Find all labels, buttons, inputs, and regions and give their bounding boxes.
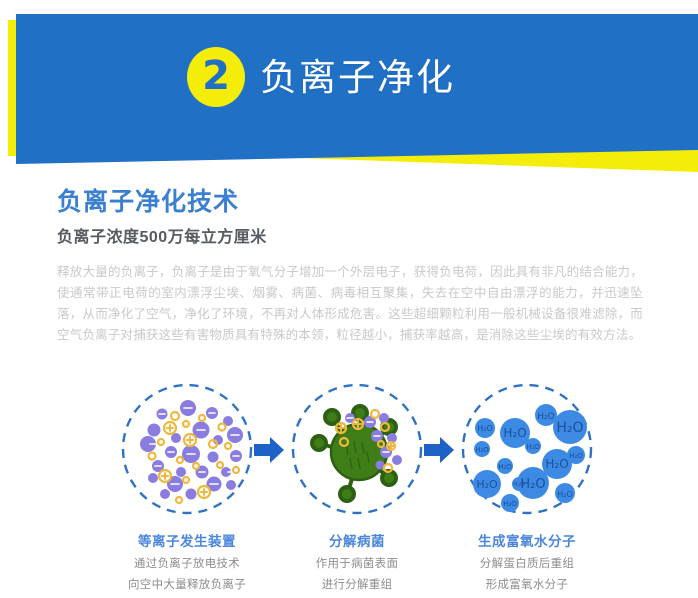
step-3-title: 生成富氧水分子 (432, 530, 622, 550)
step-1-line-1: 通过负离子放电技术 (92, 555, 282, 571)
svg-text:H₂O: H₂O (569, 452, 583, 460)
svg-text:H₂O: H₂O (498, 463, 512, 471)
svg-text:H₂O: H₂O (475, 446, 489, 454)
step-2-line-1: 作用于病菌表面 (262, 555, 452, 571)
diagram-step-decompose-germs: 分解病菌 作用于病菌表面 进行分解重组 (262, 380, 452, 592)
banner-step-badge: 2 (187, 47, 245, 107)
step-1-line-2: 向空中大量释放负离子 (92, 576, 282, 592)
section-subheading: 负离子浓度500万每立方厘米 (57, 223, 267, 247)
step-1-title: 等离子发生装置 (92, 530, 282, 550)
virus-with-ions-icon (288, 380, 426, 518)
diagram-step-plasma-generator: 等离子发生装置 通过负离子放电技术 向空中大量释放负离子 (92, 380, 282, 592)
svg-text:H₂O: H₂O (556, 420, 583, 436)
svg-text:H₂O: H₂O (503, 426, 526, 440)
svg-text:H₂O: H₂O (537, 412, 554, 422)
step-1-graphic (118, 380, 256, 518)
step-2-graphic (288, 380, 426, 518)
step-3-graphic: H₂O H₂O H₂O H₂O H₂O H₂O H₂O H₂O H₂O H₂O … (458, 380, 596, 518)
page-banner: 2 负离子净化 (0, 0, 698, 180)
step-3-line-2: 形成富氧水分子 (432, 576, 622, 592)
svg-text:H₂O: H₂O (526, 443, 540, 451)
step-2-line-2: 进行分解重组 (262, 576, 452, 592)
banner-badge-number: 2 (202, 56, 230, 96)
section-body-paragraph: 释放大量的负离子，负离子是由于氧气分子增加一个外层电子，获得负电荷，因此具有非凡… (57, 262, 643, 346)
svg-text:H₂O: H₂O (545, 457, 568, 471)
svg-text:H₂O: H₂O (477, 424, 493, 433)
svg-text:H₂O: H₂O (476, 478, 498, 491)
svg-text:H₂O: H₂O (503, 500, 517, 508)
banner-title: 负离子净化 (260, 50, 455, 106)
water-molecules-icon: H₂O H₂O H₂O H₂O H₂O H₂O H₂O H₂O H₂O H₂O … (458, 380, 596, 518)
process-diagram: 等离子发生装置 通过负离子放电技术 向空中大量释放负离子 (0, 380, 698, 598)
ion-cloud-icon (118, 380, 256, 518)
section-heading: 负离子净化技术 (57, 182, 239, 218)
step-3-line-1: 分解蛋白质后重组 (432, 555, 622, 571)
diagram-step-oxygen-rich-water: H₂O H₂O H₂O H₂O H₂O H₂O H₂O H₂O H₂O H₂O … (432, 380, 622, 592)
svg-text:H₂O: H₂O (520, 477, 545, 492)
svg-text:H₂O: H₂O (557, 490, 573, 499)
step-2-title: 分解病菌 (262, 530, 452, 550)
